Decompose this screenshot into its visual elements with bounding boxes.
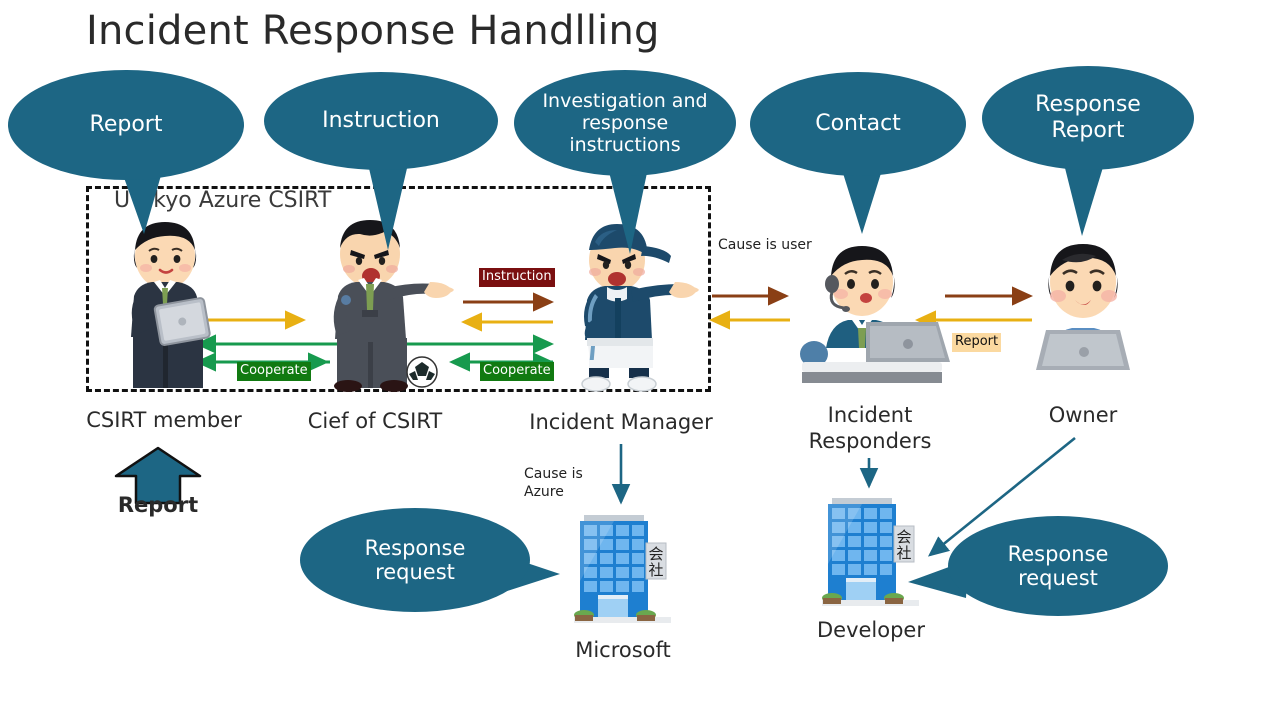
caption-incident-manager: Incident Manager xyxy=(516,410,726,436)
figure-incident-responders xyxy=(790,232,950,384)
bubble-investigation-label: Investigation and response instructions xyxy=(514,70,736,176)
flow-tag-cooperate-right: Cooperate xyxy=(480,362,554,381)
annotation-report-block-label: Report xyxy=(112,493,204,519)
bubble-investigation-tail xyxy=(604,162,664,257)
svg-text:社: 社 xyxy=(648,561,663,579)
figure-owner xyxy=(1028,230,1138,380)
bubble-response-request-developer-label: Response request xyxy=(948,516,1168,616)
caption-developer: Developer xyxy=(790,618,952,644)
bubble-response-request-microsoft-label: Response request xyxy=(300,508,530,612)
bubble-response-report-label: Response Report xyxy=(982,66,1194,170)
slide-canvas: Incident Response Handlling UTokyo Azure… xyxy=(0,0,1280,720)
flow-tag-report: Report xyxy=(952,333,1001,352)
annotation-cause-is-azure: Cause is Azure xyxy=(524,465,583,501)
bubble-report-label: Report xyxy=(8,70,244,180)
figure-csirt-member xyxy=(110,216,220,391)
caption-owner: Owner xyxy=(1004,403,1162,429)
caption-microsoft: Microsoft xyxy=(538,638,708,664)
bubble-instruction-label: Instruction xyxy=(264,72,498,170)
bubble-contact-label: Contact xyxy=(750,72,966,176)
figure-building-microsoft: 会 社 xyxy=(570,505,675,630)
caption-incident-responders: Incident Responders xyxy=(784,403,956,454)
flow-tag-cooperate-left: Cooperate xyxy=(237,362,311,381)
caption-csirt-member: CSIRT member xyxy=(60,408,268,434)
bubble-response-report-tail xyxy=(1060,158,1120,238)
flow-tag-instruction: Instruction xyxy=(479,268,555,287)
bubble-instruction-tail xyxy=(364,158,424,253)
annotation-cause-is-user: Cause is user xyxy=(718,236,812,254)
caption-chief-of-csirt: Cief of CSIRT xyxy=(280,409,470,435)
